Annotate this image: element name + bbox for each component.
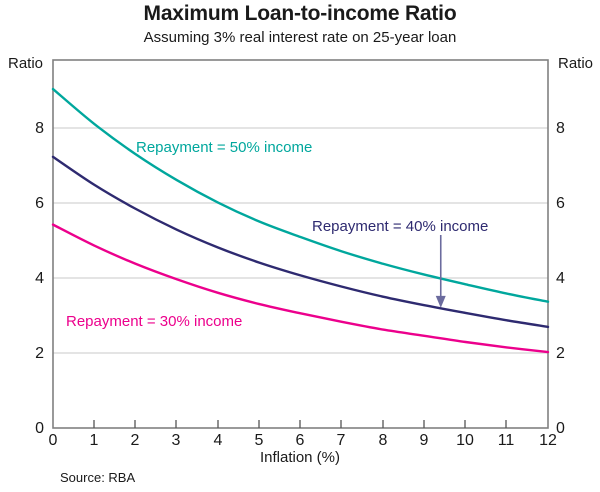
x-tick-4: 4: [203, 432, 233, 450]
x-tick-7: 7: [326, 432, 356, 450]
series-line-1: [53, 89, 548, 302]
y-tick-left-8: 8: [14, 120, 44, 138]
x-tick-5: 5: [244, 432, 274, 450]
series-label-50: Repayment = 50% income: [136, 139, 312, 156]
y-tick-right-4: 4: [556, 270, 586, 288]
x-tick-2: 2: [120, 432, 150, 450]
series-line-3: [53, 225, 548, 352]
series-label-30: Repayment = 30% income: [66, 313, 242, 330]
x-tick-10: 10: [450, 432, 480, 450]
x-axis-label: Inflation (%): [0, 449, 600, 466]
right-axis-unit-label: Ratio: [558, 55, 593, 72]
y-tick-left-4: 4: [14, 270, 44, 288]
x-tick-11: 11: [491, 432, 521, 450]
plot-area: [0, 0, 600, 492]
x-tick-0: 0: [38, 432, 68, 450]
y-tick-right-6: 6: [556, 195, 586, 213]
y-tick-right-2: 2: [556, 345, 586, 363]
x-tick-12: 12: [533, 432, 563, 450]
chart-title: Maximum Loan-to-income Ratio: [0, 2, 600, 26]
chart-root: Maximum Loan-to-income Ratio Assuming 3%…: [0, 0, 600, 492]
source-note: Source: RBA: [60, 470, 135, 485]
annotation-arrow-40: [436, 235, 446, 308]
x-axis-ticks: [94, 420, 506, 428]
y-tick-right-8: 8: [556, 120, 586, 138]
y-tick-left-2: 2: [14, 345, 44, 363]
left-axis-unit-label: Ratio: [8, 55, 43, 72]
series-line-2: [53, 157, 548, 327]
x-tick-8: 8: [368, 432, 398, 450]
series-label-40: Repayment = 40% income: [312, 218, 488, 235]
plot-frame: [53, 60, 548, 428]
y-tick-left-6: 6: [14, 195, 44, 213]
x-tick-6: 6: [285, 432, 315, 450]
x-tick-9: 9: [409, 432, 439, 450]
x-tick-3: 3: [161, 432, 191, 450]
chart-subtitle: Assuming 3% real interest rate on 25-yea…: [0, 29, 600, 46]
x-tick-1: 1: [79, 432, 109, 450]
